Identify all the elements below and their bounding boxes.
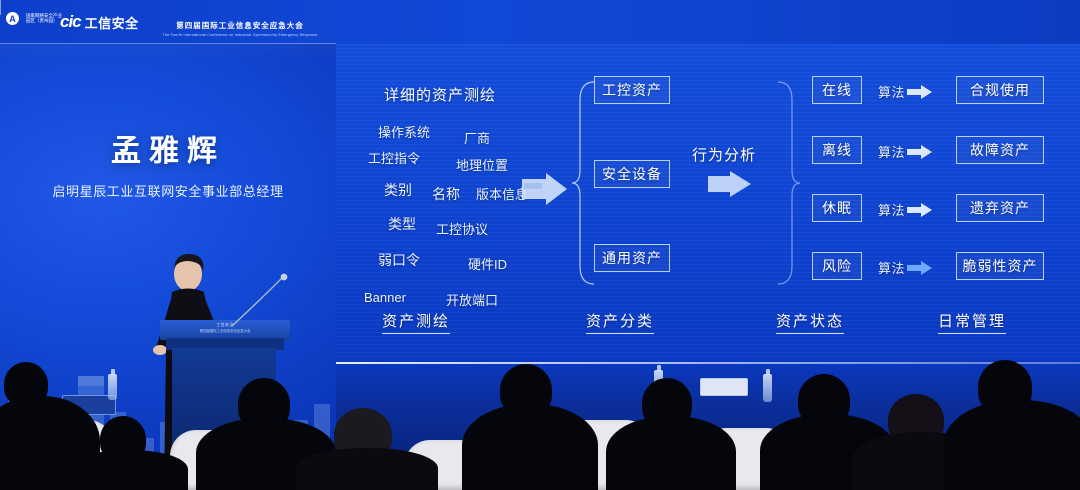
diagram-tag-type: 类型 [388, 214, 416, 234]
speaker-name: 孟雅辉 [0, 126, 336, 170]
arrow-right-icon [907, 261, 933, 275]
diagram-box-risk[interactable]: 风险 [812, 252, 862, 280]
event-top-banner: A 国家网络安全产业 园区（贵州园） cic 工信安全 第四届国际工业信息安全应… [0, 0, 1080, 44]
banner-conference-cn: 第四届国际工业信息安全应急大会 [150, 20, 330, 31]
logo-divider [0, 0, 1, 15]
diagram-algorithm-label: 算法 [878, 82, 905, 101]
diagram-box-ics-asset[interactable]: 工控资产 [594, 76, 670, 104]
diagram-algorithm-1: 算法 [878, 82, 933, 101]
diagram-tag-weak-password: 弱口令 [378, 250, 420, 270]
diagram-tag-ics-command: 工控指令 [368, 148, 420, 167]
gzpark-line2: 园区（贵州园） [26, 19, 62, 24]
diagram-box-vulnerable-asset[interactable]: 脆弱性资产 [956, 252, 1044, 280]
diagram-box-offline[interactable]: 离线 [812, 136, 862, 164]
banner-conference-title: 第四届国际工业信息安全应急大会 The Fourth International… [150, 20, 330, 37]
audience-foreground [0, 290, 1080, 490]
table-nameplate [700, 378, 748, 396]
gzpark-logo: A 国家网络安全产业 园区（贵州园） [6, 12, 62, 25]
diagram-algorithm-4: 算法 [878, 258, 933, 277]
diagram-tag-name: 名称 [432, 184, 460, 204]
water-bottle [108, 374, 117, 400]
diagram-algorithm-label: 算法 [878, 258, 905, 277]
diagram-tag-ics-protocol: 工控协议 [436, 219, 488, 238]
arrow-right-icon [522, 172, 568, 206]
conference-stage-photo: A 国家网络安全产业 园区（贵州园） cic 工信安全 第四届国际工业信息安全应… [0, 0, 1080, 490]
diagram-tag-hardware-id: 硬件ID [468, 254, 507, 273]
diagram-col1-heading: 详细的资产测绘 [384, 84, 496, 105]
diagram-box-faulty-asset[interactable]: 故障资产 [956, 136, 1044, 164]
diagram-box-abandoned-asset[interactable]: 遗弃资产 [956, 194, 1044, 222]
audience-person-shoulders [70, 450, 188, 490]
audience-person-shoulders [606, 416, 736, 490]
water-bottle [763, 374, 772, 402]
diagram-algorithm-label: 算法 [878, 200, 905, 219]
diagram-box-dormant[interactable]: 休眠 [812, 194, 862, 222]
arrow-right-icon [907, 203, 933, 217]
diagram-tag-vendor: 厂商 [464, 128, 490, 147]
arrow-right-icon [907, 85, 933, 99]
speaker-role: 启明星辰工业互联网安全事业部总经理 [0, 181, 336, 200]
cic-logo-text: 工信安全 [85, 13, 139, 32]
brace-icon [776, 78, 802, 288]
arrow-right-icon [907, 145, 933, 159]
diagram-box-security-device[interactable]: 安全设备 [594, 160, 670, 188]
diagram-tag-version-info: 版本信息 [476, 184, 528, 203]
audience-person-shoulders [462, 404, 598, 490]
diagram-box-compliant-use[interactable]: 合规使用 [956, 76, 1044, 104]
audience-person-shoulders [296, 448, 438, 490]
diagram-algorithm-label: 算法 [878, 142, 905, 161]
cic-mark: cic [60, 12, 81, 32]
diagram-box-online[interactable]: 在线 [812, 76, 862, 104]
brace-icon [570, 78, 596, 288]
arrow-right-icon [708, 170, 752, 198]
diagram-tag-os: 操作系统 [378, 122, 430, 141]
audience-person-shoulders [944, 400, 1080, 490]
cic-logo: cic 工信安全 [60, 12, 139, 32]
gzpark-mark: A [6, 12, 19, 25]
diagram-box-general-asset[interactable]: 通用资产 [594, 244, 670, 272]
diagram-algorithm-2: 算法 [878, 142, 933, 161]
banner-conference-en: The Fourth International Conference on I… [150, 33, 330, 37]
diagram-behavior-analysis-heading: 行为分析 [692, 144, 756, 165]
diagram-tag-geolocation: 地理位置 [456, 155, 508, 174]
gzpark-logo-text: 国家网络安全产业 园区（贵州园） [26, 14, 62, 23]
diagram-algorithm-3: 算法 [878, 200, 933, 219]
diagram-tag-category: 类别 [384, 180, 412, 200]
speaker-name-block: 孟雅辉 启明星辰工业互联网安全事业部总经理 [0, 126, 336, 200]
